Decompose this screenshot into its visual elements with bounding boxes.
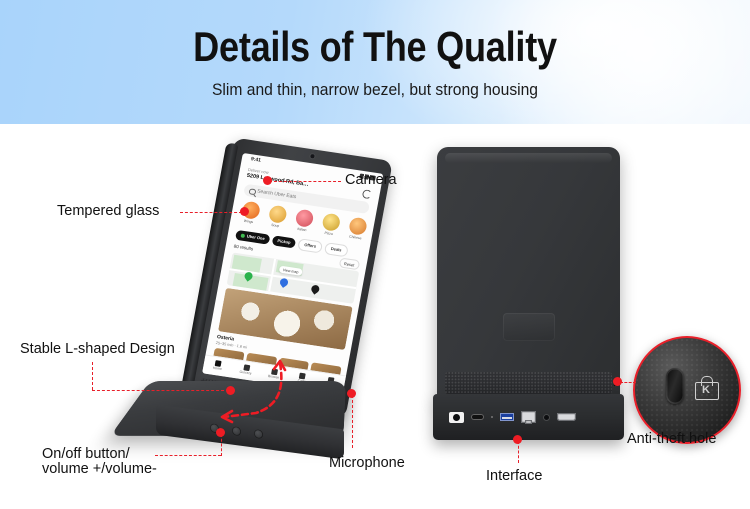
chip-offers[interactable]: Offers	[297, 238, 323, 253]
callout-dot-power	[216, 428, 225, 437]
category-item[interactable]: Wings	[236, 200, 264, 229]
callout-label-power-2: volume +/volume-	[42, 461, 157, 478]
callout-dot-camera	[263, 176, 272, 185]
page-title: Details of The Quality	[53, 23, 698, 71]
page-subtitle: Slim and thin, narrow bezel, but strong …	[30, 80, 720, 100]
chip-deals[interactable]: Deals	[324, 242, 349, 257]
product-detail-page: Details of The Quality Slim and thin, na…	[0, 0, 750, 509]
chip-label: Uber One	[246, 233, 265, 241]
pizza-icon	[321, 213, 341, 232]
category-item[interactable]: Chinese	[342, 216, 370, 245]
callout-dot-interface	[513, 435, 522, 444]
kensington-lock-icon: K	[695, 376, 717, 398]
callout-dot-l-shaped	[226, 386, 235, 395]
callout-line-microphone	[352, 395, 353, 448]
search-placeholder: Search Uber Eats	[257, 189, 297, 201]
results-count: 80 results	[233, 244, 253, 252]
dc-power-port-icon[interactable]	[449, 412, 464, 423]
callout-line-anti-theft	[620, 382, 636, 383]
audio-jack-port-icon[interactable]	[543, 414, 550, 421]
volume-down-button[interactable]	[254, 429, 263, 439]
category-label: Italian	[290, 226, 314, 233]
callout-line-l-shaped-h	[92, 390, 229, 391]
usb-3-0-port-icon[interactable]	[500, 413, 514, 421]
category-item[interactable]: Soup	[262, 204, 290, 233]
soup-icon	[267, 205, 287, 224]
callout-line-power-v	[221, 434, 222, 456]
header-banner: Details of The Quality Slim and thin, na…	[0, 0, 750, 124]
callout-label-anti-theft: Anti-theft hole	[627, 431, 716, 448]
category-item[interactable]: Pizza	[316, 212, 344, 241]
callout-line-camera	[269, 181, 341, 182]
callout-dot-anti-theft	[613, 377, 622, 386]
usb-c-port-icon[interactable]	[471, 414, 484, 420]
screw-dot-icon	[491, 416, 493, 418]
kensington-slot-icon	[666, 368, 684, 404]
callout-label-tempered-glass: Tempered glass	[57, 203, 159, 220]
category-item[interactable]: Italian	[289, 208, 317, 237]
chip-label: Pickup	[277, 238, 291, 245]
anti-theft-zoom-circle: K	[633, 336, 741, 444]
chip-uber-one[interactable]: Uber One	[235, 229, 270, 244]
chip-pickup[interactable]: Pickup	[272, 235, 297, 248]
callout-dot-tempered-glass	[240, 207, 249, 216]
uber-one-icon	[241, 233, 246, 238]
italian-icon	[294, 209, 314, 228]
refresh-icon[interactable]	[362, 189, 373, 199]
category-label: Soup	[263, 222, 287, 229]
lock-k-letter: K	[695, 382, 717, 398]
callout-label-interface: Interface	[486, 468, 542, 485]
chinese-icon	[348, 217, 368, 236]
tablet-front-view: 9:41 Deliver now 5209 Lenwood Rd, Ba… Se…	[150, 145, 380, 475]
speaker-grille	[445, 372, 612, 394]
chip-label: Offers	[304, 242, 317, 249]
back-housing	[437, 147, 620, 400]
surface-texture	[635, 338, 739, 442]
callout-label-camera: Camera	[345, 172, 397, 189]
callout-label-microphone: Microphone	[329, 455, 405, 472]
callout-line-l-shaped-v	[92, 362, 93, 390]
tablet-back-view	[437, 147, 620, 445]
callout-line-interface	[518, 441, 519, 463]
status-time: 9:41	[250, 156, 261, 163]
callout-line-power-h	[155, 455, 221, 456]
category-label: Chinese	[343, 234, 367, 241]
callout-label-l-shaped: Stable L-shaped Design	[20, 341, 175, 358]
category-label: Pizza	[316, 230, 340, 237]
callout-dot-microphone	[347, 389, 356, 398]
callout-line-tempered-glass	[180, 212, 242, 213]
search-icon	[248, 188, 256, 195]
rj45-ethernet-port-icon[interactable]	[521, 411, 536, 423]
io-port-panel	[449, 409, 616, 425]
hdmi-port-icon[interactable]	[557, 413, 576, 421]
power-button[interactable]	[232, 426, 241, 436]
chip-label: Deals	[330, 246, 341, 252]
vesa-mount-recess	[503, 313, 555, 341]
category-label: Wings	[236, 218, 260, 225]
